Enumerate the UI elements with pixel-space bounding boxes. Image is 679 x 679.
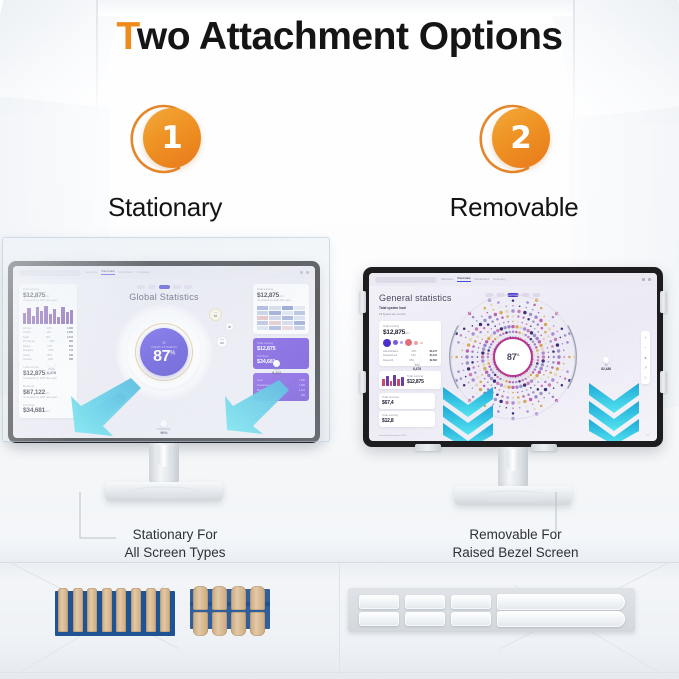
productivity-icon: [161, 420, 168, 427]
home-icon: ☉: [162, 340, 166, 345]
screen-right-toolbar[interactable]: + − ● ↗ □: [641, 331, 650, 384]
gauge-bubble-icon[interactable]: ⚙: [225, 322, 234, 331]
settings-icon[interactable]: [306, 271, 309, 274]
trade-icon: [48, 360, 55, 367]
bg-panel-top: [96, 0, 575, 16]
tab-company[interactable]: Company: [493, 278, 506, 281]
grid-icon[interactable]: □: [644, 375, 646, 380]
segment-d[interactable]: [159, 285, 170, 289]
tab-overview[interactable]: Overview: [101, 270, 114, 275]
browser-actions[interactable]: [300, 271, 309, 274]
caption-stationary: Stationary For All Screen Types: [60, 526, 290, 561]
browser-actions[interactable]: [642, 278, 651, 281]
monitor-removable: Solutions Overview Dashboard Company Gen…: [363, 267, 663, 447]
tab-company[interactable]: Company: [137, 271, 150, 274]
tape-piece: [193, 586, 208, 610]
bg-floor-line-bottom: [0, 672, 679, 673]
side-stat-total: Total 6,478: [413, 357, 421, 371]
tape-piece: [250, 612, 265, 636]
side-stat-productivity: Productivity 96%: [157, 420, 170, 435]
caption-line-1: Removable For: [398, 526, 633, 544]
menu-icon[interactable]: [300, 271, 303, 274]
total-icon: [414, 357, 420, 363]
minus-icon[interactable]: −: [644, 345, 646, 350]
infographic-canvas: Two Attachment Options 1 Stationary 2 Re…: [0, 0, 679, 679]
segment-h[interactable]: [173, 285, 181, 289]
page-title: Two Attachment Options: [0, 16, 679, 59]
monitor-bezel-right: Solutions Overview Dashboard Company Gen…: [363, 267, 663, 447]
screen-left: Solutions Overview Dashboard Company Tot…: [13, 266, 315, 438]
add-icon[interactable]: +: [644, 335, 646, 340]
mini-bar-chart: [382, 374, 404, 386]
bg-vertical-divider: [339, 564, 340, 674]
sales-icon: [273, 360, 280, 367]
list-item: Administration24%$6,217: [383, 350, 437, 353]
card-value: $67,4: [382, 400, 432, 406]
card-row-list: Administration24%$6,217 Development31%$4…: [383, 350, 437, 362]
tape-piece: [212, 612, 227, 636]
menu-icon[interactable]: [642, 278, 645, 281]
gauge-rings: ☉ USERS DYNAMICS 87% Low 87 ⚙ High 94: [116, 304, 212, 400]
stand-neck: [149, 443, 179, 483]
panel-small-right: Total earning $12,875: [379, 371, 441, 389]
segment-all[interactable]: [184, 285, 192, 289]
card-value: $12,8: [382, 418, 432, 424]
tab-dashboard[interactable]: Dashboard: [475, 278, 490, 281]
address-bar[interactable]: [375, 277, 437, 283]
panel-main-right: Total earning $12,875p/m Administration2…: [379, 321, 441, 366]
side-stat-trade: Trade 6,478: [47, 360, 56, 375]
screen-right-pagenum: 01: [647, 435, 649, 437]
removable-clip: [415, 444, 441, 451]
gauge-bubble-low[interactable]: Low 87: [209, 308, 222, 321]
removable-clip-tray: [348, 588, 635, 632]
option-block-1: 1 Stationary: [45, 104, 285, 223]
side-stat-all: All 82,486: [601, 357, 611, 371]
all-icon: [603, 357, 609, 363]
bg-floor-line-top: [0, 562, 679, 563]
screen-right-subtitle: Total system load: [379, 306, 406, 310]
tab-solutions[interactable]: Solutions: [441, 278, 453, 281]
screen-right: Solutions Overview Dashboard Company Gen…: [369, 273, 657, 441]
caption-line-2: All Screen Types: [60, 544, 290, 562]
badge-2: 2: [476, 104, 552, 174]
option-label-1: Stationary: [45, 192, 285, 223]
segment-control[interactable]: [137, 285, 192, 289]
segment-w[interactable]: [148, 285, 156, 289]
tape-piece: [212, 586, 227, 610]
install-arrows-right: [585, 381, 643, 441]
gauge-value: 87%: [507, 352, 519, 362]
tab-dashboard[interactable]: Dashboard: [119, 271, 134, 274]
settings-icon[interactable]: [648, 278, 651, 281]
option-block-2: 2 Removable: [394, 104, 634, 223]
removable-clip: [660, 291, 667, 313]
removable-clip: [359, 291, 366, 313]
tape-piece: [58, 588, 68, 632]
tape-piece: [193, 612, 208, 636]
tape-piece: [116, 588, 126, 632]
stand-neck: [498, 447, 528, 487]
tape-piece: [250, 586, 265, 610]
monitor-bezel-left: Solutions Overview Dashboard Company Tot…: [8, 261, 320, 443]
screen-right-footnote: General data statistics 2021: [379, 435, 406, 437]
gauge-bubble-high[interactable]: High 94: [216, 336, 228, 348]
gauge-core: ☉ USERS DYNAMICS 87%: [140, 328, 188, 376]
tape-piece: [146, 588, 156, 632]
list-item: Development31%$4,104: [383, 354, 437, 357]
adhesive-tape-strip-grid: [190, 586, 270, 638]
bubble-chart: [383, 339, 437, 347]
title-accent-letter: T: [116, 15, 136, 58]
badge-number-1: 1: [143, 108, 201, 168]
circle-icon[interactable]: ●: [644, 355, 646, 360]
removable-clip: [359, 371, 366, 393]
gauge-value: 87%: [153, 349, 175, 365]
side-stat-sales: Sales 8,112: [272, 360, 281, 375]
list-item: Research18%$2,862: [383, 359, 437, 362]
badge-1: 1: [127, 104, 203, 174]
stand-base: [105, 482, 223, 501]
tape-piece: [160, 588, 170, 632]
removable-clip: [660, 371, 667, 393]
address-bar[interactable]: [19, 270, 81, 276]
gauge-core-right: 87%: [493, 337, 533, 377]
gauge-section-left: Global Statistics ☉ USERS DYNAMICS 87% L…: [13, 282, 315, 438]
option-label-2: Removable: [394, 192, 634, 223]
adhesive-tape-strip-vertical: [55, 588, 175, 636]
monitor-stationary: Solutions Overview Dashboard Company Tot…: [8, 261, 320, 443]
card-value: $12,875p/m: [383, 329, 437, 336]
badge-number-2: 2: [492, 108, 550, 168]
tab-overview[interactable]: Overview: [457, 277, 470, 282]
caption-line-2: Raised Bezel Screen: [398, 544, 633, 562]
tape-piece: [231, 586, 246, 610]
small-card-text: Total earning $12,875: [407, 375, 424, 385]
screen-left-title: Global Statistics: [129, 292, 199, 302]
screen-left-browser-bar[interactable]: Solutions Overview Dashboard Company: [13, 266, 315, 279]
tape-piece: [73, 588, 83, 632]
tab-solutions[interactable]: Solutions: [85, 271, 97, 274]
tape-piece: [87, 588, 97, 632]
tape-piece: [231, 612, 246, 636]
tape-piece: [102, 588, 112, 632]
screen-right-title: General statistics: [379, 293, 452, 303]
segment-m[interactable]: [137, 285, 145, 289]
title-rest: wo Attachment Options: [137, 15, 563, 58]
screen-right-browser-bar[interactable]: Solutions Overview Dashboard Company: [369, 273, 657, 286]
panel-extra-2: Total earning $12,8: [379, 411, 435, 427]
monitor-stand-left: [105, 443, 223, 501]
caption-removable: Removable For Raised Bezel Screen: [398, 526, 633, 561]
tape-piece: [131, 588, 141, 632]
card-value: $12,875: [407, 379, 424, 385]
share-icon[interactable]: ↗: [644, 365, 647, 370]
panel-extra-1: Total revenue $67,4: [379, 393, 435, 409]
caption-line-1: Stationary For: [60, 526, 290, 544]
screen-right-subnote: All figures are normal: [379, 312, 405, 316]
